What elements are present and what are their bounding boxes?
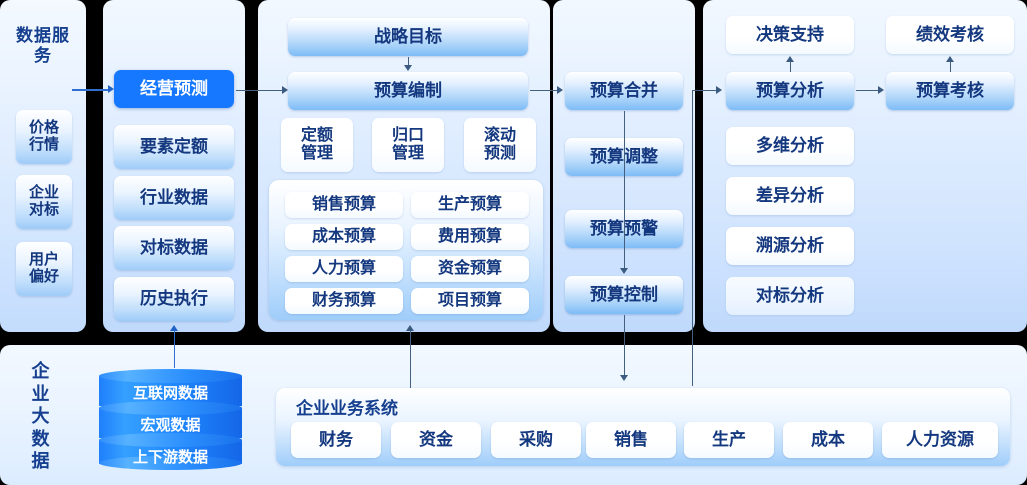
decision-support-label: 决策支持: [756, 25, 824, 44]
budget-finance-label: 财务预算: [312, 292, 376, 310]
bigdata-title: 企业大数据: [22, 360, 60, 473]
process-control[interactable]: 预算控制: [565, 276, 683, 314]
forecast-item-business-forecast[interactable]: 经营预测: [114, 70, 234, 108]
budget-compile-node[interactable]: 预算编制: [288, 72, 528, 110]
diagram-root: 数据服务 价格行情 企业对标 用户偏好 经营预测 要素定额 行业数据 对标数据 …: [0, 0, 1027, 485]
budget-expense[interactable]: 费用预算: [411, 224, 529, 250]
budget-project[interactable]: 项目预算: [411, 288, 529, 314]
forecast-item-factor-quota[interactable]: 要素定额: [114, 125, 234, 169]
biz-module-production[interactable]: 生产: [684, 422, 774, 458]
connector-assessment-to-performance: [950, 62, 951, 72]
data-stack-top-2: [99, 401, 242, 415]
forecast-item-business-forecast-label: 经营预测: [140, 79, 208, 98]
process-merge-label: 预算合并: [590, 81, 658, 100]
biz-module-procurement-label: 采购: [519, 430, 553, 449]
tool-rolling-forecast-label: 滚动预测: [481, 127, 519, 163]
biz-module-sales-label: 销售: [614, 430, 648, 449]
biz-module-finance-label: 财务: [319, 430, 353, 449]
connector-analysis-to-assessment: [856, 90, 880, 91]
biz-module-capital-label: 资金: [419, 430, 453, 449]
biz-module-hr-label: 人力资源: [906, 430, 974, 449]
biz-module-procurement[interactable]: 采购: [491, 422, 581, 458]
data-service-item-benchmark-label: 企业对标: [24, 185, 64, 219]
connector-business-to-budgetgrid: [410, 330, 411, 388]
data-stack-label-1: 互联网数据: [99, 382, 242, 403]
data-service-title: 数据服务: [10, 26, 76, 66]
arrow-strategy-to-compile: [404, 65, 412, 71]
data-stack-label-3: 上下游数据: [99, 446, 242, 467]
biz-module-capital[interactable]: 资金: [391, 422, 481, 458]
data-stack-label-2: 宏观数据: [99, 414, 242, 435]
strategy-goal-label: 战略目标: [374, 27, 442, 46]
budget-finance[interactable]: 财务预算: [285, 288, 403, 314]
forecast-item-history-execution[interactable]: 历史执行: [114, 277, 234, 321]
forecast-item-history-execution-label: 历史执行: [140, 289, 208, 308]
arrow-forecast-to-compile: [282, 86, 288, 94]
connector-compile-to-merge: [530, 90, 559, 91]
connector-analysis-to-decision: [790, 62, 791, 72]
analysis-traceability[interactable]: 溯源分析: [726, 227, 854, 265]
biz-module-cost[interactable]: 成本: [783, 422, 873, 458]
data-service-item-price-label: 价格行情: [24, 120, 64, 154]
arrow-process-to-control: [620, 268, 628, 274]
tool-centralized-management-label: 归口管理: [389, 127, 427, 163]
connector-process-chain: [624, 111, 625, 271]
arrow-dataservice-to-forecast: [108, 85, 114, 93]
biz-module-hr[interactable]: 人力资源: [882, 422, 998, 458]
connector-dataservice-to-forecast: [72, 89, 110, 91]
biz-module-cost-label: 成本: [811, 430, 845, 449]
data-stack-top-3: [99, 433, 242, 447]
arrow-analysis-to-decision: [786, 56, 794, 62]
strategy-goal-node[interactable]: 战略目标: [288, 18, 528, 56]
budget-capital[interactable]: 资金预算: [411, 256, 529, 282]
data-service-item-price[interactable]: 价格行情: [16, 110, 72, 164]
budget-expense-label: 费用预算: [438, 228, 502, 246]
analysis-variance[interactable]: 差异分析: [726, 177, 854, 215]
budget-sales[interactable]: 销售预算: [285, 192, 403, 218]
budget-production[interactable]: 生产预算: [411, 192, 529, 218]
analysis-benchmark-label: 对标分析: [756, 286, 824, 305]
analysis-multidim[interactable]: 多维分析: [726, 127, 854, 165]
connector-forecast-to-compile: [236, 90, 284, 91]
connector-bigdata-to-forecast: [174, 330, 175, 368]
arrow-business-to-budgetgrid: [406, 325, 414, 331]
data-stack-top-1: [99, 369, 242, 383]
connector-control-to-business: [624, 315, 625, 377]
arrow-compile-to-merge: [557, 86, 563, 94]
budget-project-label: 项目预算: [438, 292, 502, 310]
arrow-assessment-to-performance: [946, 56, 954, 62]
budget-cost[interactable]: 成本预算: [285, 224, 403, 250]
arrow-control-to-business: [620, 375, 628, 381]
analysis-traceability-label: 溯源分析: [756, 236, 824, 255]
tool-quota-management-label: 定额管理: [298, 127, 336, 163]
analysis-variance-label: 差异分析: [756, 186, 824, 205]
budget-assessment-label: 预算考核: [916, 81, 984, 100]
biz-module-finance[interactable]: 财务: [291, 422, 381, 458]
tool-centralized-management[interactable]: 归口管理: [372, 118, 444, 172]
budget-capital-label: 资金预算: [438, 260, 502, 278]
data-service-item-preference[interactable]: 用户偏好: [16, 242, 72, 296]
arrow-to-budget-analysis: [716, 86, 722, 94]
decision-support-node[interactable]: 决策支持: [726, 16, 854, 54]
tool-quota-management[interactable]: 定额管理: [281, 118, 353, 172]
analysis-benchmark[interactable]: 对标分析: [726, 277, 854, 315]
budget-hr-label: 人力预算: [312, 260, 376, 278]
forecast-item-factor-quota-label: 要素定额: [140, 137, 208, 156]
forecast-item-benchmark-data-label: 对标数据: [140, 238, 208, 257]
data-service-item-benchmark[interactable]: 企业对标: [16, 175, 72, 229]
budget-production-label: 生产预算: [438, 196, 502, 214]
business-system-title: 企业业务系统: [296, 394, 398, 419]
data-stack-icon[interactable]: 互联网数据 宏观数据 上下游数据: [99, 368, 242, 472]
forecast-item-benchmark-data[interactable]: 对标数据: [114, 226, 234, 270]
performance-assessment-node[interactable]: 绩效考核: [886, 16, 1014, 54]
budget-cost-label: 成本预算: [312, 228, 376, 246]
connector-business-to-analysis-horizontal: [692, 90, 718, 91]
budget-analysis-node[interactable]: 预算分析: [726, 72, 854, 110]
forecast-item-industry-data-label: 行业数据: [140, 188, 208, 207]
budget-compile-label: 预算编制: [374, 81, 442, 100]
data-service-item-preference-label: 用户偏好: [24, 252, 64, 286]
biz-module-sales[interactable]: 销售: [586, 422, 676, 458]
arrow-analysis-to-assessment: [878, 86, 884, 94]
budget-analysis-label: 预算分析: [756, 81, 824, 100]
analysis-multidim-label: 多维分析: [756, 136, 824, 155]
tool-rolling-forecast[interactable]: 滚动预测: [464, 118, 536, 172]
biz-module-production-label: 生产: [712, 430, 746, 449]
arrow-bigdata-to-forecast: [170, 325, 178, 331]
performance-assessment-label: 绩效考核: [916, 25, 984, 44]
process-control-label: 预算控制: [590, 285, 658, 304]
budget-assessment-node[interactable]: 预算考核: [886, 72, 1014, 110]
connector-business-to-analysis-vertical: [692, 90, 693, 386]
process-merge[interactable]: 预算合并: [565, 72, 683, 110]
forecast-item-industry-data[interactable]: 行业数据: [114, 176, 234, 220]
budget-sales-label: 销售预算: [312, 196, 376, 214]
budget-hr[interactable]: 人力预算: [285, 256, 403, 282]
bigdata-title-text: 企业大数据: [30, 360, 52, 473]
